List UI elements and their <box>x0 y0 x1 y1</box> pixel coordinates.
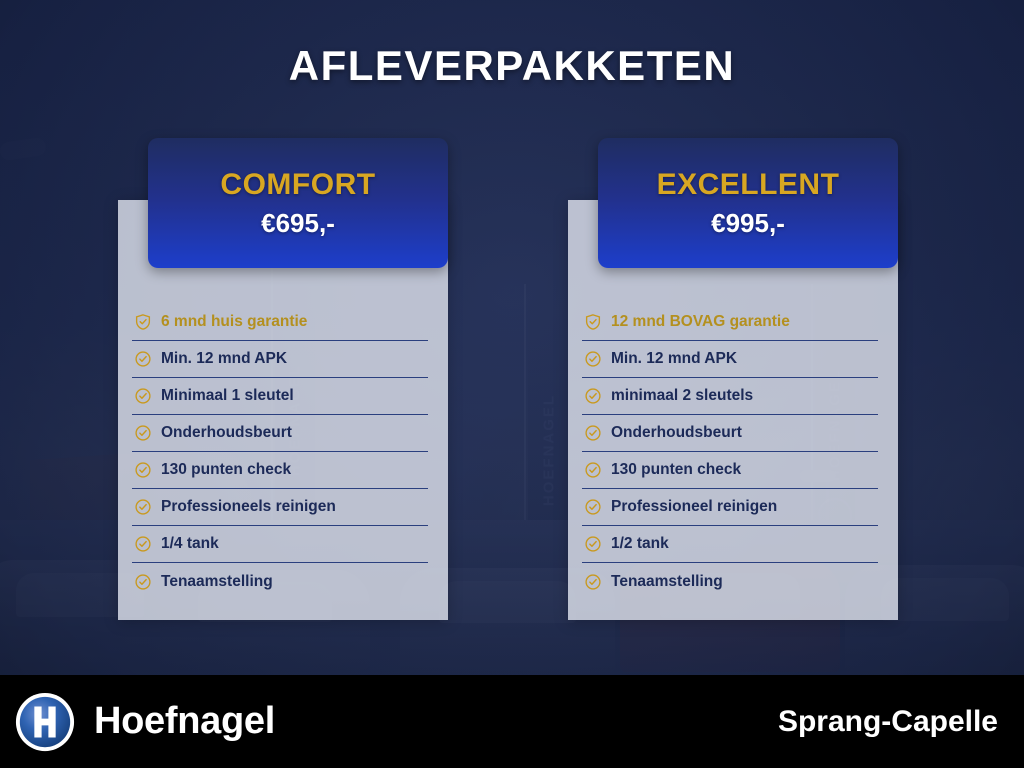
feature-row: minimaal 2 sleutels <box>582 378 878 415</box>
feature-row: Professioneel reinigen <box>582 489 878 526</box>
package-price: €695,- <box>261 208 335 239</box>
package-card-comfort[interactable]: COMFORT €695,- 6 mnd huis garantie Min. … <box>118 200 448 620</box>
feature-label: 130 punten check <box>611 461 741 479</box>
circle-check-icon <box>134 498 152 516</box>
feature-row: 130 punten check <box>132 452 428 489</box>
feature-row: Professioneels reinigen <box>132 489 428 526</box>
circle-check-icon <box>584 350 602 368</box>
feature-label: 12 mnd BOVAG garantie <box>611 313 790 331</box>
feature-row: 130 punten check <box>582 452 878 489</box>
brand-name: Hoefnagel <box>94 700 275 743</box>
feature-label: 1/4 tank <box>161 535 219 553</box>
circle-check-icon <box>134 573 152 591</box>
circle-check-icon <box>584 461 602 479</box>
feature-label: Tenaamstelling <box>611 573 723 591</box>
feature-row: Tenaamstelling <box>132 563 428 600</box>
package-tier-name: COMFORT <box>220 168 375 202</box>
card-header: COMFORT €695,- <box>148 138 448 268</box>
package-card-excellent[interactable]: EXCELLENT €995,- 12 mnd BOVAG garantie M… <box>568 200 898 620</box>
circle-check-icon <box>134 461 152 479</box>
feature-row: 1/4 tank <box>132 526 428 563</box>
circle-check-icon <box>584 498 602 516</box>
feature-label: Onderhoudsbeurt <box>161 424 292 442</box>
feature-label: 1/2 tank <box>611 535 669 553</box>
feature-label: Min. 12 mnd APK <box>611 350 737 368</box>
feature-row: Min. 12 mnd APK <box>582 341 878 378</box>
hoefnagel-h-logo-icon <box>14 691 76 753</box>
circle-check-icon <box>134 350 152 368</box>
feature-row: Onderhoudsbeurt <box>132 415 428 452</box>
slide-stage: HOEFNAGEL HOEFNAGEL HOEFNAGEL AFLEVERPAK… <box>0 0 1024 768</box>
feature-label: Minimaal 1 sleutel <box>161 387 294 405</box>
circle-check-icon <box>584 535 602 553</box>
brand-lockup[interactable]: Hoefnagel <box>14 691 275 753</box>
shield-check-icon <box>134 313 152 331</box>
feature-label: Onderhoudsbeurt <box>611 424 742 442</box>
feature-label: 130 punten check <box>161 461 291 479</box>
feature-row: Tenaamstelling <box>582 563 878 600</box>
page-title: AFLEVERPAKKETEN <box>0 42 1024 90</box>
feature-row: 1/2 tank <box>582 526 878 563</box>
card-header: EXCELLENT €995,- <box>598 138 898 268</box>
feature-label: Min. 12 mnd APK <box>161 350 287 368</box>
feature-list: 6 mnd huis garantie Min. 12 mnd APK Mini… <box>132 304 428 600</box>
shield-check-icon <box>584 313 602 331</box>
feature-label: Professioneel reinigen <box>611 498 777 516</box>
package-tier-name: EXCELLENT <box>657 168 840 202</box>
feature-row: 6 mnd huis garantie <box>132 304 428 341</box>
feature-row: Min. 12 mnd APK <box>132 341 428 378</box>
package-price: €995,- <box>711 208 785 239</box>
feature-label: 6 mnd huis garantie <box>161 313 307 331</box>
feature-label: Professioneels reinigen <box>161 498 336 516</box>
location-label: Sprang-Capelle <box>778 705 998 739</box>
feature-row: 12 mnd BOVAG garantie <box>582 304 878 341</box>
feature-label: Tenaamstelling <box>161 573 273 591</box>
circle-check-icon <box>134 387 152 405</box>
feature-label: minimaal 2 sleutels <box>611 387 753 405</box>
circle-check-icon <box>134 424 152 442</box>
circle-check-icon <box>134 535 152 553</box>
circle-check-icon <box>584 573 602 591</box>
circle-check-icon <box>584 424 602 442</box>
circle-check-icon <box>584 387 602 405</box>
feature-row: Minimaal 1 sleutel <box>132 378 428 415</box>
footer-bar: Hoefnagel Sprang-Capelle <box>0 675 1024 768</box>
feature-list: 12 mnd BOVAG garantie Min. 12 mnd APK mi… <box>582 304 878 600</box>
feature-row: Onderhoudsbeurt <box>582 415 878 452</box>
